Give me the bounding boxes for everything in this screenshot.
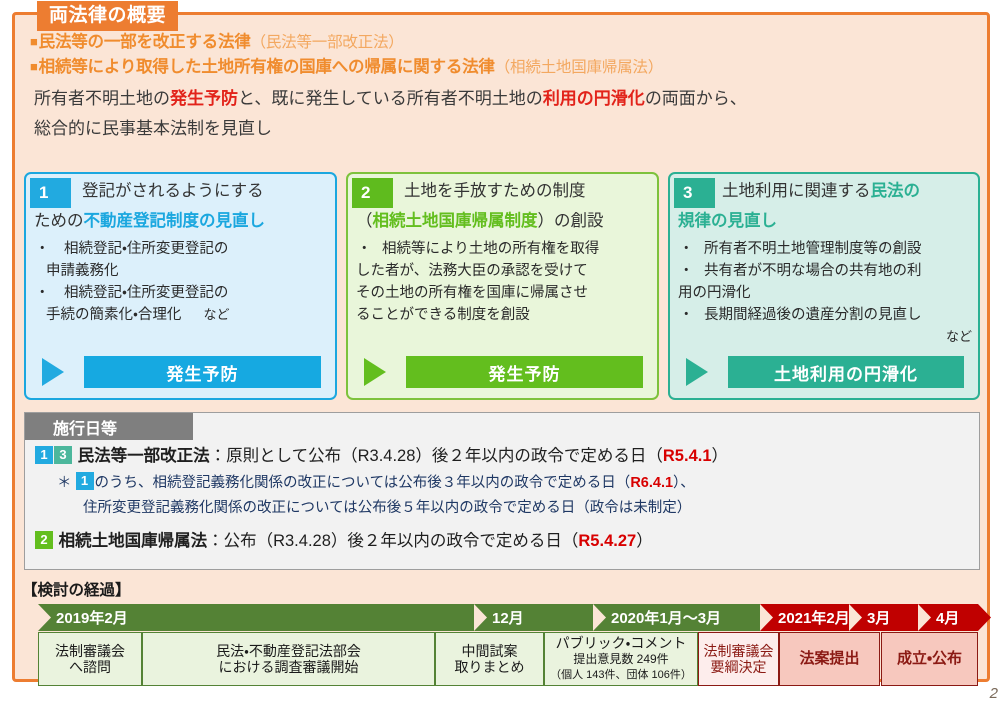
timeline-event-line: 中間試案 [462, 643, 518, 659]
box-1-bullet-2-cont: 手続の簡素化・合理化など [32, 304, 329, 326]
summary-text-c: の両面から、 [645, 89, 747, 108]
summary-emphasis-utilization: 利用の円滑化 [543, 89, 645, 108]
timeline-event-line: 要綱決定 [711, 659, 767, 675]
box-2-bullets: ・相続等により土地の所有権を取得 した者が、法務大臣の承認を受けて その土地の所… [348, 238, 657, 326]
law-item-2: ■相続等により取得した土地所有権の国庫への帰属に関する法律（相続土地国庫帰属法） [30, 55, 960, 80]
timeline-period-label: 12月 [492, 607, 524, 628]
enforcement-note-1-text-b: ）、 [673, 475, 695, 491]
enforcement-row-1-text-b: ） [712, 447, 729, 465]
box-2-cta: 発生予防 [348, 356, 657, 388]
arrow-right-icon [686, 358, 708, 386]
concept-boxes: 1 登記がされるようにする ための不動産登記制度の見直し ・相続登記・住所変更登… [24, 172, 980, 400]
box-3-cta: 土地利用の円滑化 [670, 356, 978, 388]
timeline-event-6: 法案提出 [779, 632, 880, 686]
timeline-period-2: 12月 [474, 604, 593, 631]
timeline-event-line: 提出意見数 249件 [573, 651, 668, 667]
summary-line-1: 所有者不明土地の発生予防と、既に発生している所有者不明土地の利用の円滑化の両面か… [34, 84, 974, 114]
law-item-1: ■民法等の一部を改正する法律（民法等一部改正法） [30, 30, 960, 55]
bullet-dot-icon: ・ [679, 260, 694, 282]
box-3-cta-label: 土地利用の円滑化 [728, 356, 964, 388]
box-2-heading-line2: （相続土地国庫帰属制度）の創設 [348, 206, 657, 236]
timeline-arrows: 2019年2月12月2020年1月～3月2021年2月3月4月 [38, 604, 978, 631]
concept-box-1: 1 登記がされるようにする ための不動産登記制度の見直し ・相続登記・住所変更登… [24, 172, 337, 400]
badge-3: 3 [54, 446, 72, 464]
concept-box-3: 3 土地利用に関連する民法の 規律の見直し ・所有者不明土地管理制度等の創設 ・… [668, 172, 980, 400]
law-2-paren: （相続土地国庫帰属法） [495, 59, 663, 76]
timeline-event-1: 法制審議会へ諮問 [38, 632, 142, 686]
timeline-period-1: 2019年2月 [38, 604, 474, 631]
box-1-cta-label: 発生予防 [84, 356, 321, 388]
enforcement-row-2-text-a: ：公布（R3.4.28）後２年以内の政令で定める日（ [207, 532, 578, 550]
enforcement-row-1-date: R5.4.1 [663, 447, 712, 465]
box-2-bullet-1: ・相続等により土地の所有権を取得 [354, 238, 651, 260]
timeline-period-6: 4月 [918, 604, 978, 631]
timeline-heading: 【検討の経過】 [22, 578, 131, 600]
timeline-event-line: 法制審議会 [55, 643, 125, 659]
enforcement-note-2-text: 住所変更登記義務化関係の改正については公布後５年以内の政令で定める日（政令は未制… [35, 496, 975, 521]
timeline-event-line: 取りまとめ [455, 659, 525, 675]
box-3-bullet-3: ・長期間経過後の遺産分割の見直し [676, 304, 972, 326]
enforcement-body: 13 民法等一部改正法：原則として公布（R3.4.28）後２年以内の政令で定める… [35, 442, 975, 556]
law-list: ■民法等の一部を改正する法律（民法等一部改正法） ■相続等により取得した土地所有… [30, 30, 960, 80]
box-1-bullet-1: ・相続登記・住所変更登記の [32, 238, 329, 260]
enforcement-row-2-text-b: ） [636, 532, 653, 550]
box-2-heading: 土地を手放すための制度 （相続土地国庫帰属制度）の創設 [348, 176, 657, 236]
law-2-bold: 相続等により取得した土地所有権の国庫への帰属に関する法律 [39, 58, 495, 76]
box-1-cta: 発生予防 [26, 356, 335, 388]
bullet-dot-icon: ・ [679, 238, 694, 260]
timeline-event-line: 法制審議会 [704, 643, 774, 659]
badge-1: 1 [35, 446, 53, 464]
timeline-period-5: 3月 [849, 604, 918, 631]
box-3-nado: など [946, 329, 972, 344]
box-1-bullets: ・相続登記・住所変更登記の 申請義務化 ・相続登記・住所変更登記の 手続の簡素化… [26, 238, 335, 326]
bullet-dot-icon: ・ [35, 238, 50, 260]
enforcement-note-1-text-a: のうち、相続登記義務化関係の改正については公布後３年以内の政令で定める日（ [95, 475, 631, 491]
timeline-cells: 法制審議会へ諮問民法・不動産登記法部会における調査審議開始中間試案取りまとめパブ… [38, 632, 978, 686]
timeline-period-label: 2020年1月～3月 [611, 607, 721, 628]
timeline-event-line: 法案提出 [799, 651, 859, 667]
summary-paragraph: 所有者不明土地の発生予防と、既に発生している所有者不明土地の利用の円滑化の両面か… [34, 84, 974, 144]
enforcement-note-1-date: R6.4.1 [630, 475, 673, 491]
timeline-period-3: 2020年1月～3月 [593, 604, 760, 631]
timeline-event-7: 成立・公布 [881, 632, 978, 686]
timeline-period-label: 4月 [936, 607, 959, 628]
timeline-period-4: 2021年2月 [760, 604, 849, 631]
square-bullet-icon: ■ [30, 34, 38, 49]
enforcement-panel: 施行日等 13 民法等一部改正法：原則として公布（R3.4.28）後２年以内の政… [24, 412, 980, 570]
badge-2: 2 [35, 531, 53, 549]
box-3-bullets: ・所有者不明土地管理制度等の創設 ・共有者が不明な場合の共有地の利 用の円滑化 … [670, 238, 978, 348]
enforcement-note-1: ＊ 1のうち、相続登記義務化関係の改正については公布後３年以内の政令で定める日（… [35, 471, 975, 496]
timeline-event-line: 成立・公布 [897, 651, 962, 667]
box-3-heading-line2: 規律の見直し [670, 206, 978, 236]
box-3-bullet-2: ・共有者が不明な場合の共有地の利 [676, 260, 972, 282]
timeline-period-label: 3月 [867, 607, 890, 628]
enforcement-row-2-date: R5.4.27 [578, 532, 636, 550]
box-3-bullet-2-cont: 用の円滑化 [676, 282, 972, 304]
box-1-bullet-2: ・相続登記・住所変更登記の [32, 282, 329, 304]
timeline-event-line: パブリック・コメント [556, 635, 687, 651]
box-2-bullet-1-l2: した者が、法務大臣の承認を受けて [354, 260, 651, 282]
timeline-event-4: パブリック・コメント提出意見数 249件（個人 143件、団体 106件） [544, 632, 698, 686]
panel-title: 両法律の概要 [37, 1, 178, 31]
box-2-cta-label: 発生予防 [406, 356, 643, 388]
box-1-heading: 登記がされるようにする ための不動産登記制度の見直し [26, 176, 335, 236]
arrow-right-icon [364, 358, 386, 386]
timeline-event-3: 中間試案取りまとめ [435, 632, 544, 686]
enforcement-note-2: 住所変更登記義務化関係の改正については公布後５年以内の政令で定める日（政令は未制… [35, 496, 975, 521]
square-bullet-icon: ■ [30, 59, 38, 74]
bullet-dot-icon: ・ [357, 238, 372, 260]
timeline-event-line: へ諮問 [69, 659, 111, 675]
enforcement-row-1-text-a: ：原則として公布（R3.4.28）後２年以内の政令で定める日（ [210, 447, 663, 465]
enforcement-tab-label: 施行日等 [25, 413, 193, 440]
box-2-heading-line1: 土地を手放すための制度 [348, 176, 657, 206]
timeline-event-5: 法制審議会要綱決定 [698, 632, 779, 686]
box-2-bullet-1-l3: その土地の所有権を国庫に帰属させ [354, 282, 651, 304]
law-1-bold: 民法等の一部を改正する法律 [39, 33, 251, 51]
box-3-heading: 土地利用に関連する民法の 規律の見直し [670, 176, 978, 236]
timeline-event-line: 民法・不動産登記法部会 [216, 643, 361, 659]
enforcement-row-2: 2 相続土地国庫帰属法：公布（R3.4.28）後２年以内の政令で定める日（R5.… [35, 521, 975, 556]
box-3-heading-line1: 土地利用に関連する民法の [670, 176, 978, 206]
badge-1: 1 [76, 472, 94, 490]
box-1-heading-line2: ための不動産登記制度の見直し [26, 206, 335, 236]
box-3-bullet-1: ・所有者不明土地管理制度等の創設 [676, 238, 972, 260]
timeline: 2019年2月12月2020年1月～3月2021年2月3月4月 法制審議会へ諮問… [38, 604, 978, 686]
timeline-event-line: における調査審議開始 [219, 659, 359, 675]
summary-text-b: と、既に発生している所有者不明土地の [238, 89, 543, 108]
box-1-heading-line1: 登記がされるようにする [26, 176, 335, 206]
box-1-bullet-1-cont: 申請義務化 [32, 260, 329, 282]
bullet-dot-icon: ・ [679, 304, 694, 326]
summary-line-2: 総合的に民事基本法制を見直し [34, 114, 974, 144]
summary-text-a: 所有者不明土地の [34, 89, 170, 108]
arrow-right-icon [42, 358, 64, 386]
law-1-paren: （民法等一部改正法） [251, 34, 404, 51]
timeline-period-label: 2021年2月 [778, 607, 850, 628]
enforcement-row-1: 13 民法等一部改正法：原則として公布（R3.4.28）後２年以内の政令で定める… [35, 442, 975, 471]
enforcement-row-2-law: 相続土地国庫帰属法 [59, 532, 208, 550]
enforcement-row-1-law: 民法等一部改正法 [78, 447, 210, 465]
page-number: 2 [990, 685, 998, 702]
box-3-nado-row: など [676, 326, 972, 348]
box-1-nado: など [181, 307, 229, 322]
concept-box-2: 2 土地を手放すための制度 （相続土地国庫帰属制度）の創設 ・相続等により土地の… [346, 172, 659, 400]
summary-emphasis-prevention: 発生予防 [170, 89, 238, 108]
bullet-dot-icon: ・ [35, 282, 50, 304]
timeline-event-2: 民法・不動産登記法部会における調査審議開始 [142, 632, 435, 686]
timeline-event-line: （個人 143件、団体 106件） [550, 667, 692, 683]
box-2-bullet-1-l4: ることができる制度を創設 [354, 304, 651, 326]
timeline-period-label: 2019年2月 [56, 607, 128, 628]
slide-root: 両法律の概要 ■民法等の一部を改正する法律（民法等一部改正法） ■相続等により取… [0, 0, 1004, 704]
note-star: ＊ [35, 475, 72, 491]
